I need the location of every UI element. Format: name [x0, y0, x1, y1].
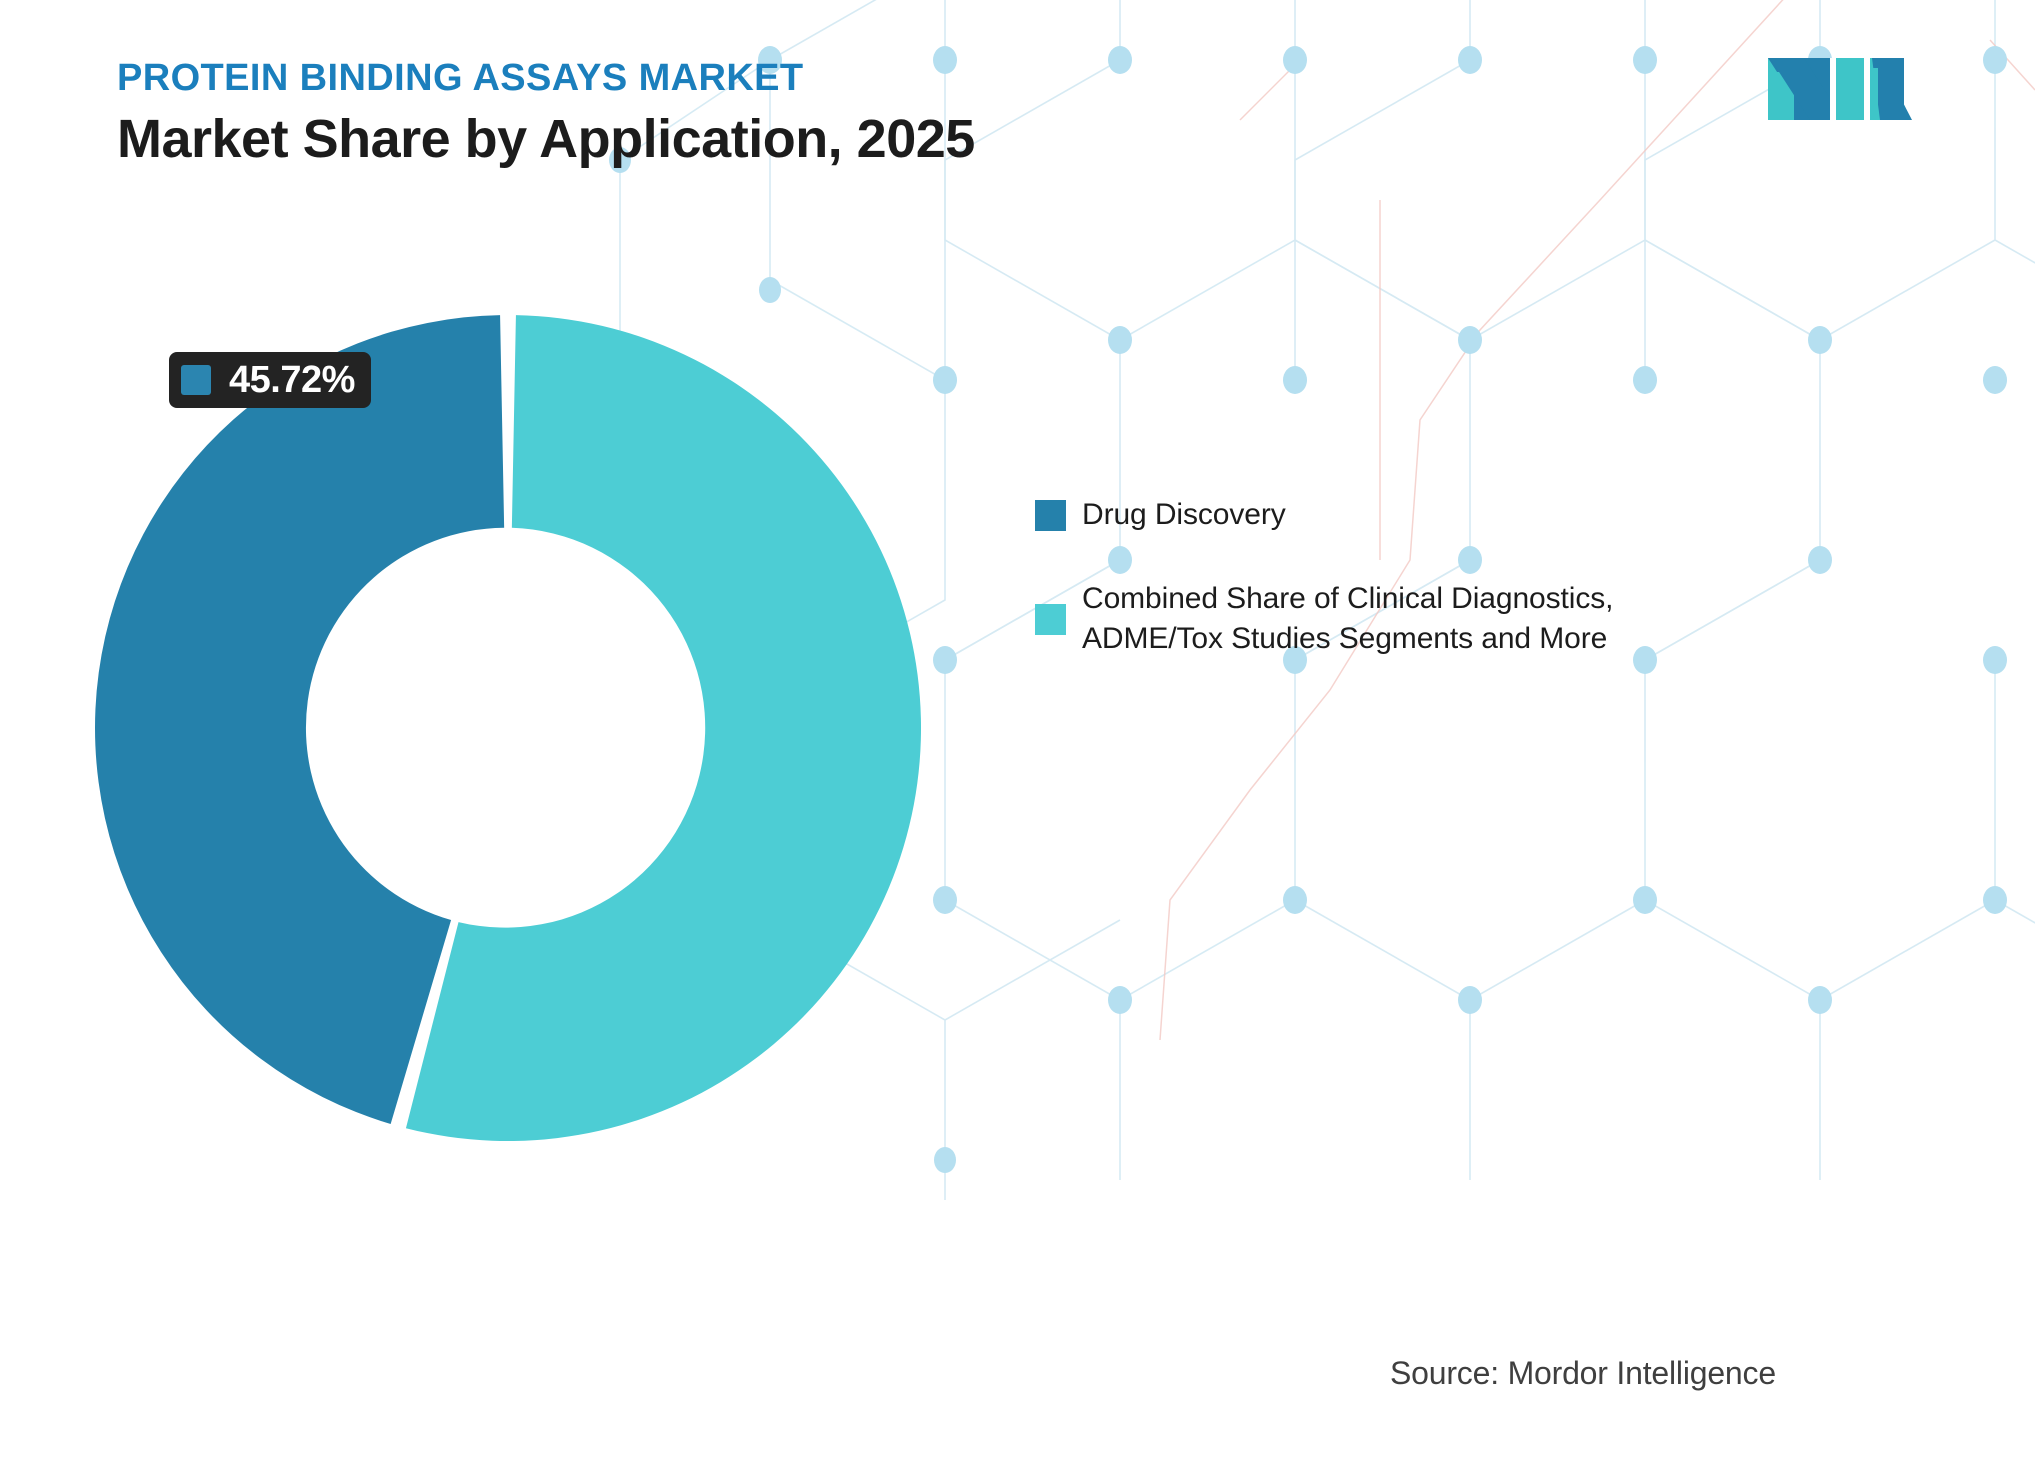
legend-item-label: Combined Share of Clinical Diagnostics, …	[1082, 579, 1642, 659]
chart-canvas: PROTEIN BINDING ASSAYS MARKET Market Sha…	[0, 0, 2035, 1480]
legend-swatch-icon	[1035, 604, 1066, 635]
source-note: Source: Mordor Intelligence	[1390, 1355, 1776, 1392]
legend-item-combined-share[interactable]: Combined Share of Clinical Diagnostics, …	[1035, 579, 1675, 659]
data-label-tooltip: 45.72%	[169, 352, 371, 408]
data-label-value: 45.72%	[229, 361, 355, 399]
header-block: PROTEIN BINDING ASSAYS MARKET Market Sha…	[117, 58, 1317, 170]
legend-swatch-icon	[1035, 500, 1066, 531]
data-label-swatch-icon	[181, 365, 211, 395]
report-name: PROTEIN BINDING ASSAYS MARKET	[117, 58, 1317, 98]
chart-legend: Drug Discovery Combined Share of Clinica…	[1035, 495, 1675, 704]
donut-chart	[88, 308, 928, 1148]
legend-item-label: Drug Discovery	[1082, 495, 1286, 535]
legend-item-drug-discovery[interactable]: Drug Discovery	[1035, 495, 1675, 535]
page-title: Market Share by Application, 2025	[117, 108, 1317, 170]
mordor-intelligence-logo	[1768, 58, 1912, 120]
